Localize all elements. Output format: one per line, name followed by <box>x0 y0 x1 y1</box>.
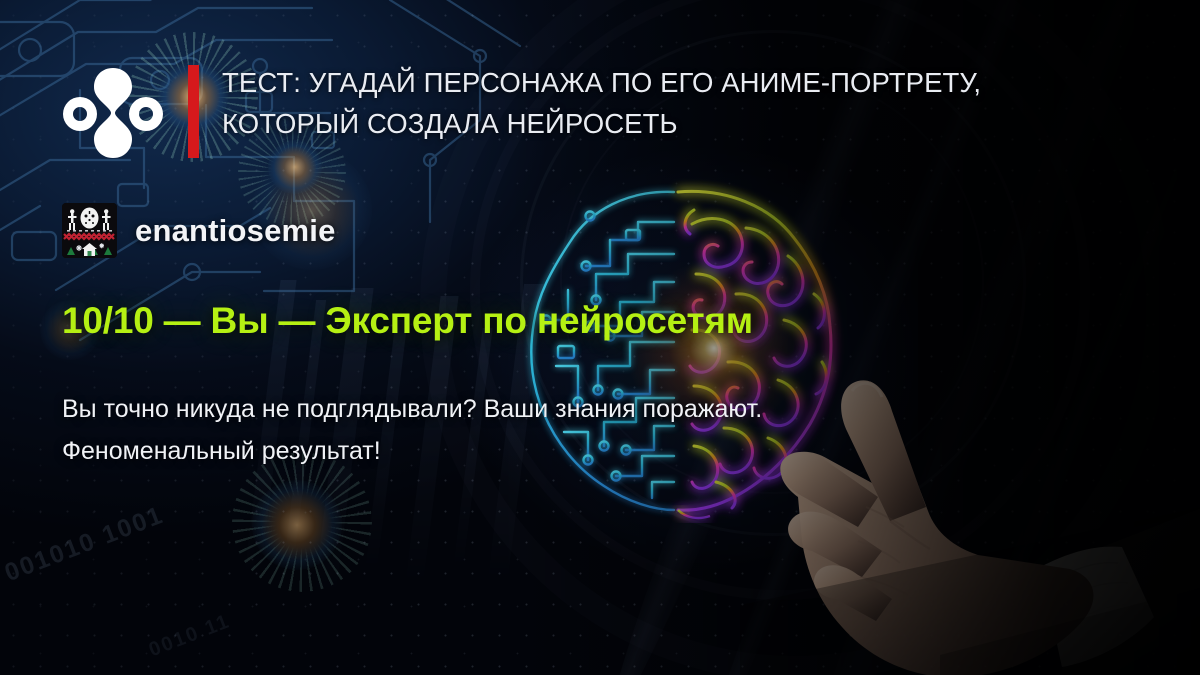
page-title-line-1: ТЕСТ: УГАДАЙ ПЕРСОНАЖА ПО ЕГО АНИМЕ-ПОРТ… <box>222 62 1062 103</box>
promo-banner: 001010 1001 0010 11 <box>0 0 1200 675</box>
author-name[interactable]: enantiosemie <box>135 213 336 249</box>
author-block[interactable]: enantiosemie <box>62 203 336 258</box>
result-headline: 10/10 — Вы — Эксперт по нейросетям <box>62 300 753 342</box>
result-description-line-2: Феноменальный результат! <box>62 430 962 472</box>
pixel-sweater-avatar-icon[interactable] <box>62 203 117 258</box>
page-title: ТЕСТ: УГАДАЙ ПЕРСОНАЖА ПО ЕГО АНИМЕ-ПОРТ… <box>222 62 1062 144</box>
infinity-nodes-logo-icon[interactable] <box>62 62 164 164</box>
page-title-line-2: КОТОРЫЙ СОЗДАЛА НЕЙРОСЕТЬ <box>222 103 1062 144</box>
accent-bar <box>188 65 199 158</box>
banner-header: ТЕСТ: УГАДАЙ ПЕРСОНАЖА ПО ЕГО АНИМЕ-ПОРТ… <box>0 0 1200 185</box>
result-description: Вы точно никуда не подглядывали? Ваши зн… <box>62 388 962 472</box>
result-description-line-1: Вы точно никуда не подглядывали? Ваши зн… <box>62 388 962 430</box>
